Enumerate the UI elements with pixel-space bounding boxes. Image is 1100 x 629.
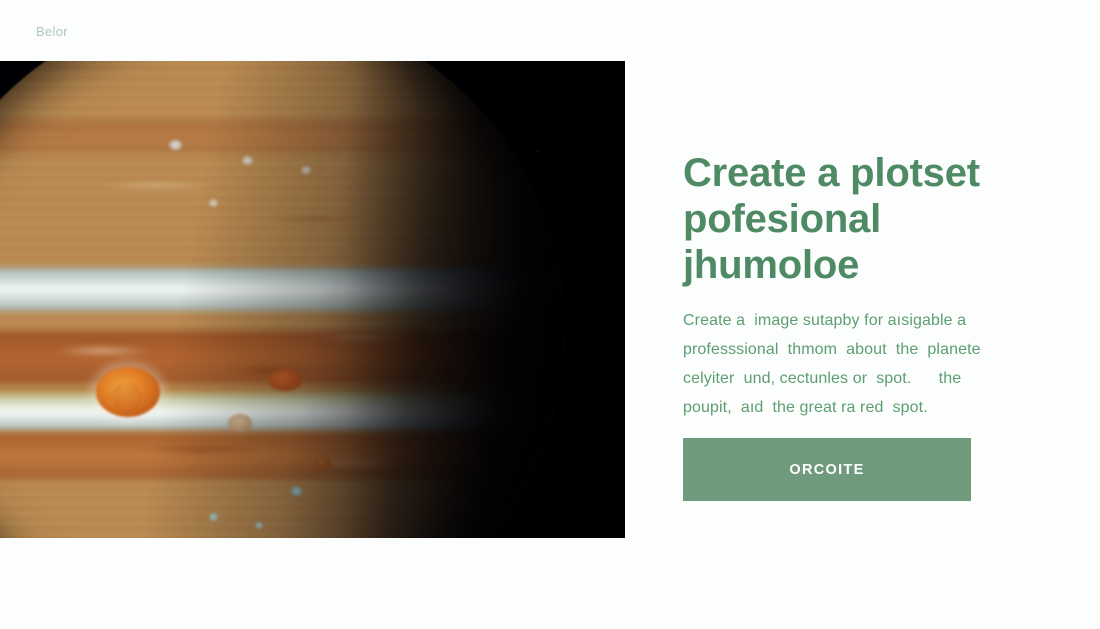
brand-logo[interactable]: Belor [36,24,68,39]
body-paragraph: Create a image sutapby for aısigable a p… [683,306,1043,422]
page-title: Create a plotset pofesional jhumoloe [683,150,1043,288]
body-line-2: professsional thmom about the planete [683,335,1043,364]
hero-image-panel [0,61,625,538]
content-column: Create a plotset pofesional jhumoloe Cre… [683,150,1043,422]
body-line-1: Create a image sutapby for aısigable a [683,306,1043,335]
headline-line-1: Create a plotset [683,150,1043,196]
headline-line-2: pofesional [683,196,1043,242]
cta-button[interactable]: ORCOITE [683,438,971,501]
headline-line-3: jhumoloe [683,242,1043,288]
top-bar: Belor [0,0,1100,61]
body-line-3: celyiter und, cectunles or spot. the [683,364,1043,393]
jupiter-planet-image [0,61,565,538]
planet-edge-glow [0,61,565,538]
body-line-4: poupit, aıd the great ra red spot. [683,393,1043,422]
